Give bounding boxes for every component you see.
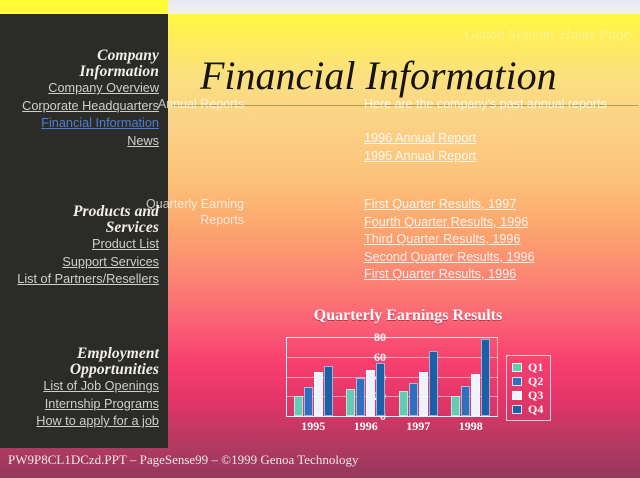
sidebar-item-company-overview[interactable]: Company Overview xyxy=(4,80,159,98)
bar-group-1997 xyxy=(392,337,445,416)
sidebar-group-heading: CompanyInformation xyxy=(4,48,159,80)
sidebar-item-financial-information[interactable]: Financial Information xyxy=(4,115,159,133)
chart-legend: Q1Q2Q3Q4 xyxy=(506,355,551,421)
bar-Q3-1998 xyxy=(471,374,480,416)
sidebar-navigation: CompanyInformationCompany OverviewCorpor… xyxy=(0,14,168,448)
bar-Q1-1996 xyxy=(346,389,355,416)
legend-label: Q4 xyxy=(528,402,543,417)
legend-item-Q3: Q3 xyxy=(512,388,543,402)
sidebar-item-news[interactable]: News xyxy=(4,133,159,151)
bar-Q2-1997 xyxy=(409,383,418,416)
x-tick-label: 1996 xyxy=(340,419,393,434)
sidebar-group-heading: EmploymentOpportunities xyxy=(4,346,159,378)
bar-Q1-1997 xyxy=(399,391,408,416)
legend-swatch-icon xyxy=(512,377,522,386)
legend-swatch-icon xyxy=(512,391,522,400)
annual-reports-label: Annual Reports xyxy=(64,96,244,112)
legend-label: Q2 xyxy=(528,374,543,389)
x-tick-label: 1997 xyxy=(392,419,445,434)
chart-title: Quarterly Earnings Results xyxy=(248,307,568,325)
bar-Q2-1996 xyxy=(356,378,365,416)
site-home-watermark-text: Genoa Systems Home Page xyxy=(465,27,630,44)
link-1996-annual-report[interactable]: 1996 Annual Report xyxy=(364,130,610,148)
quarterly-report-link-list: First Quarter Results, 1997Fourth Quarte… xyxy=(364,196,535,284)
bar-group-1995 xyxy=(287,337,340,416)
sidebar-item-how-to-apply-for-a-job[interactable]: How to apply for a job xyxy=(4,413,159,431)
legend-label: Q3 xyxy=(528,388,543,403)
earnings-bar-chart: Quarterly Earnings Results 020406080 199… xyxy=(248,307,638,457)
link-1995-annual-report[interactable]: 1995 Annual Report xyxy=(364,148,610,166)
bar-Q4-1997 xyxy=(429,351,438,416)
sidebar-item-product-list[interactable]: Product List xyxy=(4,236,159,254)
bar-Q4-1998 xyxy=(481,339,490,416)
link-third-quarter-results-1996[interactable]: Third Quarter Results, 1996 xyxy=(364,231,535,249)
x-tick-label: 1998 xyxy=(445,419,498,434)
annual-report-link-list: 1996 Annual Report1995 Annual Report xyxy=(364,130,610,165)
sidebar-group-3: EmploymentOpportunitiesList of Job Openi… xyxy=(4,346,159,431)
legend-label: Q1 xyxy=(528,360,543,375)
x-tick-label: 1995 xyxy=(287,419,340,434)
top-edge-strip xyxy=(168,0,640,14)
legend-item-Q4: Q4 xyxy=(512,402,543,416)
quarterly-reports-label: Quarterly Earning Reports xyxy=(64,196,244,228)
sidebar-item-support-services[interactable]: Support Services xyxy=(4,254,159,272)
sidebar-item-list-of-partners-resellers[interactable]: List of Partners/Resellers xyxy=(4,271,159,289)
bar-Q1-1998 xyxy=(451,396,460,416)
bar-group-1998 xyxy=(445,337,498,416)
link-fourth-quarter-results-1996[interactable]: Fourth Quarter Results, 1996 xyxy=(364,214,535,232)
legend-item-Q1: Q1 xyxy=(512,360,543,374)
link-first-quarter-results-1997[interactable]: First Quarter Results, 1997 xyxy=(364,196,535,214)
annual-reports-description: Here are the company's past annual repor… xyxy=(364,96,610,112)
main-content: Genoa Systems Home Page Financial Inform… xyxy=(168,14,640,478)
chart-x-axis-labels: 1995199619971998 xyxy=(287,419,497,434)
bar-Q3-1997 xyxy=(419,372,428,416)
bar-Q3-1995 xyxy=(314,372,323,416)
bar-Q1-1995 xyxy=(294,396,303,416)
page-title: Financial Information xyxy=(200,54,557,98)
footer-text: PW9P8CL1DCzd.PPT – PageSense99 – ©1999 G… xyxy=(8,452,358,468)
sidebar-item-internship-programs[interactable]: Internship Programs xyxy=(4,396,159,414)
slide-canvas: CompanyInformationCompany OverviewCorpor… xyxy=(0,0,640,478)
legend-swatch-icon xyxy=(512,405,522,414)
legend-item-Q2: Q2 xyxy=(512,374,543,388)
bar-Q4-1995 xyxy=(324,366,333,416)
bar-group-1996 xyxy=(340,337,393,416)
bar-Q4-1996 xyxy=(376,363,385,416)
bar-Q2-1998 xyxy=(461,386,470,416)
sidebar-item-list-of-job-openings[interactable]: List of Job Openings xyxy=(4,378,159,396)
link-second-quarter-results-1996[interactable]: Second Quarter Results, 1996 xyxy=(364,249,535,267)
chart-bars xyxy=(287,337,497,416)
bar-Q3-1996 xyxy=(366,370,375,416)
link-first-quarter-results-1996[interactable]: First Quarter Results, 1996 xyxy=(364,266,535,284)
legend-swatch-icon xyxy=(512,363,522,372)
bar-Q2-1995 xyxy=(304,387,313,416)
